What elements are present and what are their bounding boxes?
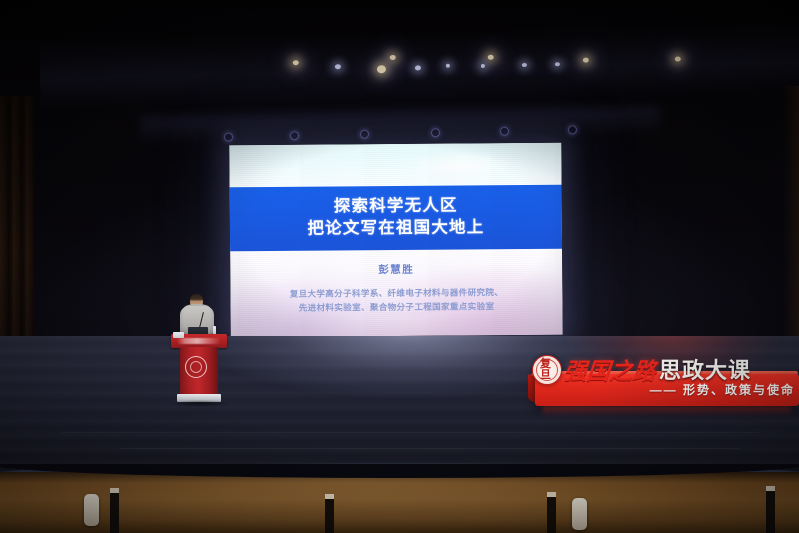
canlight-icon — [500, 127, 509, 136]
truss-lamp-icon — [293, 60, 299, 65]
canlight-icon — [224, 132, 233, 141]
seal-glyph: 复旦 — [540, 359, 554, 381]
podium-nameplate — [173, 332, 184, 338]
slide-title-line-1: 探索科学无人区 — [334, 197, 458, 217]
slide: 探索科学无人区 把论文写在祖国大地上 彭慧胜 复旦大学高分子科学系、纤维电子材料… — [229, 143, 562, 338]
floor-seam — [120, 448, 740, 449]
slide-header-band — [229, 143, 561, 188]
podium-shadow — [170, 400, 230, 407]
event-banner: 复旦 强国之路 思政大课 —— 形势、政策与使命 — [528, 354, 799, 416]
wall-speaker-icon — [84, 494, 99, 526]
floor-seam — [60, 432, 760, 433]
banner-title: 强国之路 思政大课 — [564, 354, 799, 384]
truss-lamp-icon — [446, 64, 450, 68]
canlight-icon — [568, 125, 577, 134]
truss-lamp-icon — [555, 62, 560, 66]
stage-apron-edge — [0, 464, 799, 478]
stage-apron-wall — [0, 472, 799, 533]
truss-lamp-icon — [377, 65, 386, 73]
apron-panel — [110, 488, 119, 533]
podium-group — [168, 294, 230, 412]
truss-lamp-icon — [390, 55, 396, 60]
wall-speaker-icon — [572, 498, 587, 530]
truss-lamp-icon — [675, 56, 681, 61]
slide-speaker-name: 彭慧胜 — [378, 261, 414, 276]
truss-lamp-icon — [335, 64, 341, 69]
truss-lamp-icon — [522, 63, 527, 67]
apron-panel — [325, 494, 334, 533]
podium-seal-icon — [185, 356, 207, 378]
truss-lamp-icon — [481, 64, 485, 68]
presentation-screen: 探索科学无人区 把论文写在祖国大地上 彭慧胜 复旦大学高分子科学系、纤维电子材料… — [229, 143, 562, 338]
truss-lamp-icon — [415, 65, 421, 70]
slide-affiliation-line-2: 先进材料实验室、聚合物分子工程国家重点实验室 — [299, 300, 495, 316]
slide-title-band: 探索科学无人区 把论文写在祖国大地上 — [230, 185, 562, 251]
canlight-icon — [431, 128, 440, 137]
banner-reflection — [542, 406, 792, 416]
truss-lamp-icon — [583, 58, 589, 63]
apron-panel — [766, 486, 775, 533]
canlight-icon — [290, 131, 299, 140]
truss-lamp-icon — [488, 55, 494, 60]
slide-title-line-2: 把论文写在祖国大地上 — [307, 218, 484, 239]
fudan-seal-icon: 复旦 — [532, 355, 562, 385]
apron-panel — [547, 492, 556, 533]
canlight-icon — [360, 130, 369, 139]
slide-body: 彭慧胜 复旦大学高分子科学系、纤维电子材料与器件研究院、 先进材料实验室、聚合物… — [230, 248, 563, 337]
stage-photo-scene: 探索科学无人区 把论文写在祖国大地上 彭慧胜 复旦大学高分子科学系、纤维电子材料… — [0, 0, 799, 533]
banner-subtitle: —— 形势、政策与使命 — [580, 381, 795, 398]
slide-affiliation-line-1: 复旦大学高分子科学系、纤维电子材料与器件研究院、 — [290, 285, 504, 301]
